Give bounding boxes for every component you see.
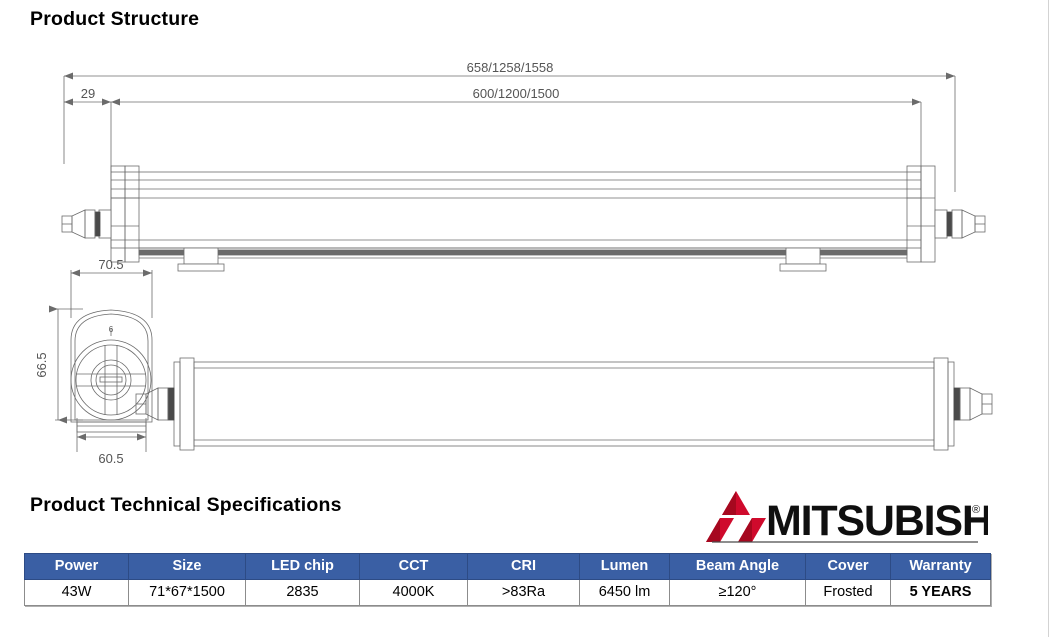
cell-cct: 4000K <box>360 580 468 606</box>
page-title-product-technical-specifications: Product Technical Specifications <box>30 494 342 517</box>
product-datasheet-page: Product Structure <box>0 0 1057 637</box>
column-header-cct: CCT <box>360 554 468 580</box>
mitsubishi-logo: MITSUBISHI ® <box>688 487 988 543</box>
registered-trademark-mark: ® <box>972 504 980 516</box>
cell-cri: >83Ra <box>468 580 580 606</box>
plan-view <box>136 358 992 450</box>
dimension-label-end-offset: 29 <box>81 86 95 101</box>
cell-size: 71*67*1500 <box>129 580 246 606</box>
dimension-label-body-length: 600/1200/1500 <box>473 86 560 101</box>
dimension-body-length <box>111 102 921 172</box>
cell-lumen: 6450 lm <box>580 580 670 606</box>
column-header-cover: Cover <box>806 554 891 580</box>
mitsubishi-three-diamonds-icon <box>706 491 766 542</box>
page-title-product-structure: Product Structure <box>30 8 199 31</box>
column-header-beam-angle: Beam Angle <box>670 554 806 580</box>
cell-warranty: 5 YEARS <box>891 580 991 606</box>
dimension-label-center-mark: 6 <box>109 325 114 334</box>
column-header-warranty: Warranty <box>891 554 991 580</box>
end-section-view <box>55 270 152 452</box>
dimension-label-base-width: 60.5 <box>98 451 123 466</box>
dimension-label-outer-width: 70.5 <box>98 257 123 272</box>
cell-power: 43W <box>25 580 129 606</box>
cell-led-chip: 2835 <box>246 580 360 606</box>
product-specifications-table: Power Size LED chip CCT CRI Lumen Beam A… <box>24 553 991 606</box>
side-elevation-view <box>62 166 985 271</box>
cell-beam-angle: ≥120° <box>670 580 806 606</box>
technical-drawing: 658/1258/1558 600/1200/1500 29 70.5 60.5… <box>0 40 1057 480</box>
dimension-label-height: 66.5 <box>34 352 49 377</box>
cell-cover: Frosted <box>806 580 891 606</box>
column-header-led-chip: LED chip <box>246 554 360 580</box>
mitsubishi-wordmark: MITSUBISHI <box>766 497 988 543</box>
dimension-base-width <box>77 418 146 452</box>
column-header-lumen: Lumen <box>580 554 670 580</box>
dimension-label-overall-length: 658/1258/1558 <box>467 60 554 75</box>
column-header-cri: CRI <box>468 554 580 580</box>
table-row: 43W 71*67*1500 2835 4000K >83Ra 6450 lm … <box>25 580 991 606</box>
column-header-size: Size <box>129 554 246 580</box>
column-header-power: Power <box>25 554 129 580</box>
table-header-row: Power Size LED chip CCT CRI Lumen Beam A… <box>25 554 991 580</box>
dimension-outer-width <box>71 270 152 318</box>
